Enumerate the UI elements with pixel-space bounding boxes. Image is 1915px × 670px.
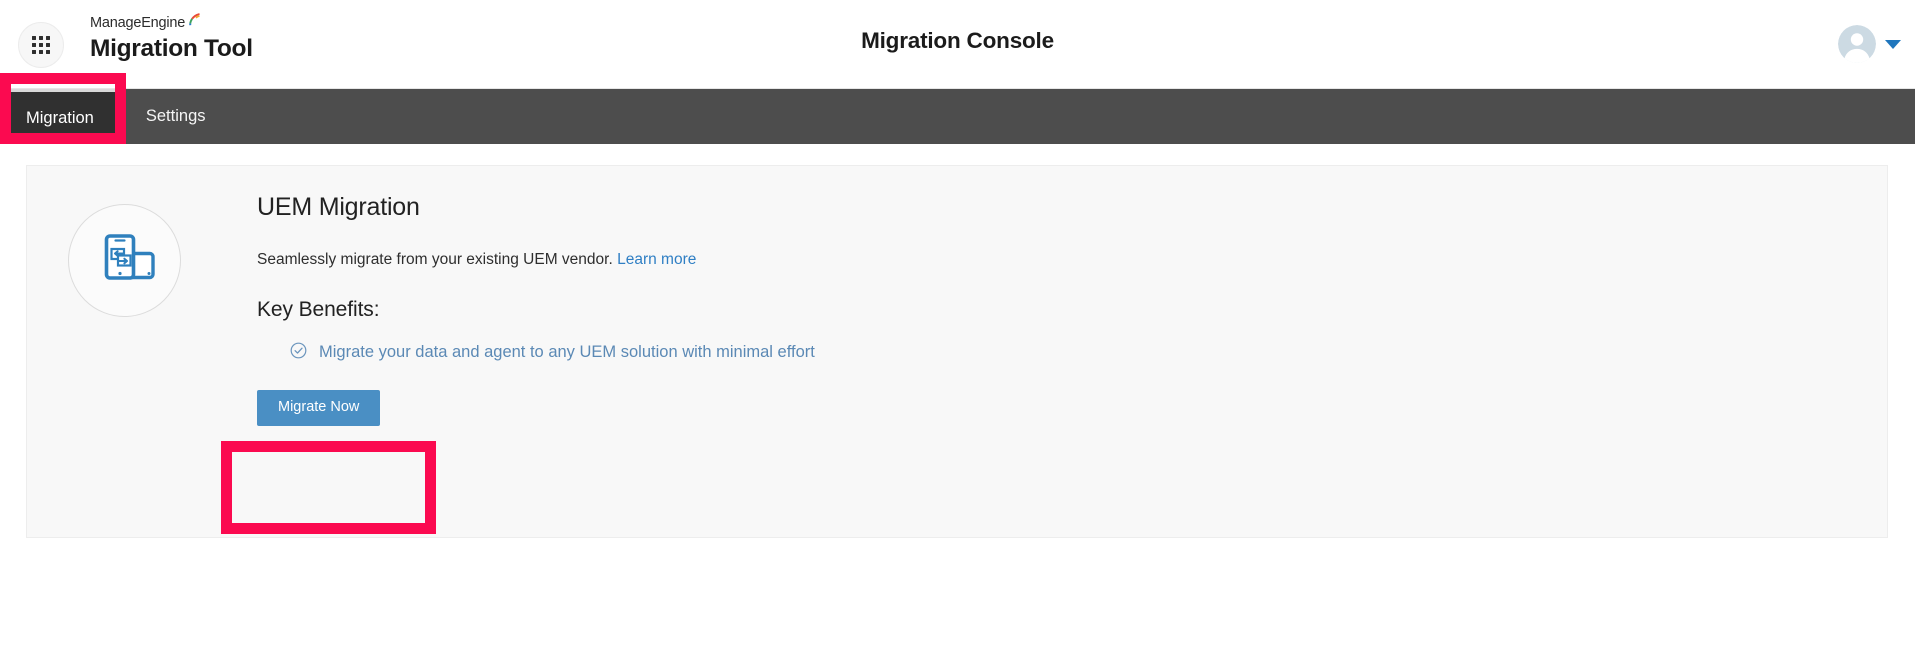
- app-header: ManageEngine Migration Tool Migration Co…: [0, 0, 1915, 89]
- learn-more-link[interactable]: Learn more: [617, 251, 696, 268]
- brand-prefix: Manage: [90, 16, 141, 31]
- key-benefits-heading: Key Benefits:: [257, 298, 1863, 322]
- main-tab-bar: Migration Settings: [0, 89, 1915, 144]
- card-actions: Migrate Now: [257, 390, 380, 426]
- main-content: UEM Migration Seamlessly migrate from yo…: [0, 144, 1915, 670]
- tab-migration-label: Migration: [26, 109, 94, 128]
- card-description-text: Seamlessly migrate from your existing UE…: [257, 251, 613, 268]
- card-text-block: UEM Migration Seamlessly migrate from yo…: [257, 192, 1863, 364]
- tab-migration[interactable]: Migration: [0, 89, 120, 144]
- brand-logo[interactable]: ManageEngine Migration Tool: [90, 16, 253, 61]
- benefit-text: Migrate your data and agent to any UEM s…: [319, 343, 815, 362]
- card-description: Seamlessly migrate from your existing UE…: [257, 249, 1863, 271]
- user-avatar-icon: [1838, 25, 1876, 63]
- brand-manageengine: ManageEngine: [90, 16, 253, 34]
- check-circle-icon: [290, 342, 307, 364]
- list-item: Migrate your data and agent to any UEM s…: [290, 342, 1863, 364]
- brand-suffix: Engine: [141, 16, 185, 31]
- page-title: Migration Console: [0, 28, 1915, 54]
- key-benefits-list: Migrate your data and agent to any UEM s…: [257, 342, 1863, 364]
- app-switcher-button[interactable]: [18, 22, 64, 68]
- brand-product-name: Migration Tool: [90, 37, 253, 62]
- uem-migration-card: UEM Migration Seamlessly migrate from yo…: [26, 165, 1888, 538]
- waffle-grid-icon: [32, 36, 50, 54]
- device-migration-icon: [94, 227, 156, 294]
- card-title: UEM Migration: [257, 192, 1863, 222]
- user-menu[interactable]: [1838, 20, 1901, 68]
- card-icon-badge: [68, 204, 181, 317]
- migrate-now-button[interactable]: Migrate Now: [257, 390, 380, 426]
- tab-settings[interactable]: Settings: [120, 89, 232, 144]
- tab-settings-label: Settings: [146, 107, 206, 126]
- manageengine-swirl-icon: [187, 12, 201, 30]
- chevron-down-icon[interactable]: [1885, 40, 1901, 49]
